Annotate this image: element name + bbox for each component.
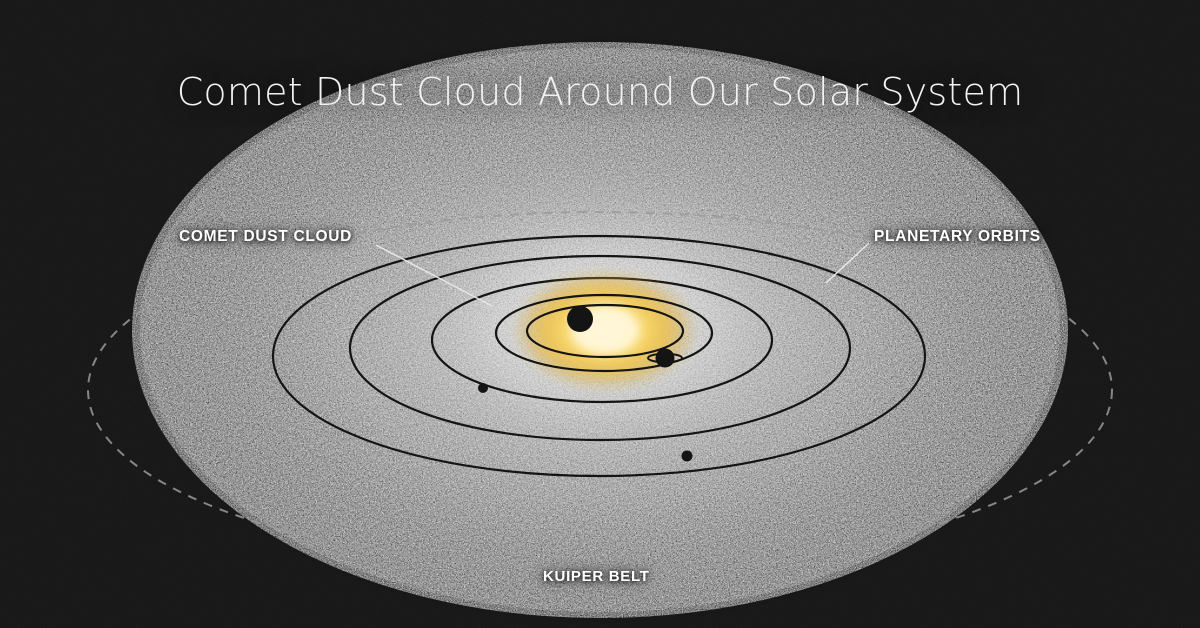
space-diagram-canvas: Comet Dust Cloud Around Our Solar System…	[0, 0, 1200, 628]
label-planetary-orbits: PLANETARY ORBITS	[874, 228, 1041, 246]
diagram-svg	[0, 0, 1200, 628]
label-comet-dust-cloud: COMET DUST CLOUD	[179, 228, 352, 246]
planet-small-left	[478, 383, 488, 393]
label-kuiper-belt: KUIPER BELT	[543, 568, 650, 585]
planet-small-lower	[682, 451, 693, 462]
planet-inner-large	[567, 306, 593, 332]
